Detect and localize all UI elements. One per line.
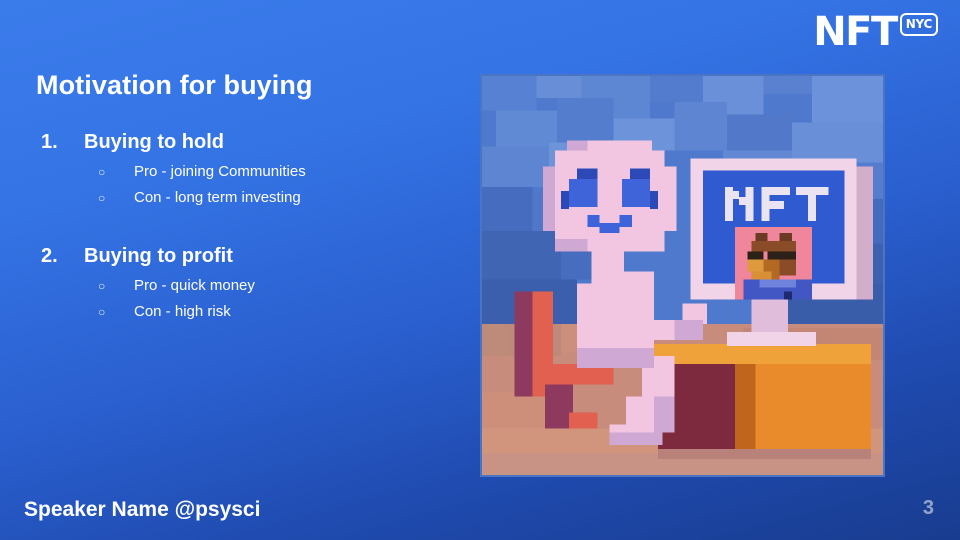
- list-heading: Buying to profit: [84, 242, 233, 271]
- list-number: 1.: [36, 128, 84, 157]
- list-item: ○ Con - long term investing: [36, 185, 456, 211]
- numbered-heading-row: 2. Buying to profit: [36, 242, 456, 271]
- slide-body-list: 1. Buying to hold ○ Pro - joining Commun…: [36, 128, 456, 329]
- sub-bullet-list: ○ Pro - quick money ○ Con - high risk: [36, 273, 456, 326]
- footer-speaker-name: Speaker Name @psysci: [24, 498, 260, 522]
- pixel-art-illustration: [480, 74, 885, 477]
- logo-nyc-badge: NYC: [900, 13, 938, 36]
- logo-wordmark: NFT: [813, 12, 897, 52]
- presentation-slide: NFT NYC Motivation for buying 1. Buying …: [0, 0, 960, 540]
- list-number: 2.: [36, 242, 84, 271]
- nft-pixel-art-image: [480, 74, 885, 477]
- list-item: 2. Buying to profit ○ Pro - quick money …: [36, 242, 456, 326]
- list-spacer: [36, 216, 456, 242]
- bullet-text: Pro - quick money: [134, 273, 255, 299]
- slide-page-number: 3: [923, 497, 934, 520]
- bullet-text: Pro - joining Communities: [134, 159, 306, 185]
- circle-bullet-icon: ○: [36, 276, 134, 297]
- bullet-text: Con - high risk: [134, 299, 231, 325]
- circle-bullet-icon: ○: [36, 188, 134, 209]
- list-item: 1. Buying to hold ○ Pro - joining Commun…: [36, 128, 456, 212]
- circle-bullet-icon: ○: [36, 302, 134, 323]
- list-heading: Buying to hold: [84, 128, 224, 157]
- numbered-heading-row: 1. Buying to hold: [36, 128, 456, 157]
- circle-bullet-icon: ○: [36, 162, 134, 183]
- sub-bullet-list: ○ Pro - joining Communities ○ Con - long…: [36, 159, 456, 212]
- list-item: ○ Con - high risk: [36, 299, 456, 325]
- list-item: ○ Pro - joining Communities: [36, 159, 456, 185]
- nft-nyc-logo: NFT NYC: [813, 12, 938, 52]
- slide-title: Motivation for buying: [36, 70, 313, 101]
- bullet-text: Con - long term investing: [134, 185, 301, 211]
- list-item: ○ Pro - quick money: [36, 273, 456, 299]
